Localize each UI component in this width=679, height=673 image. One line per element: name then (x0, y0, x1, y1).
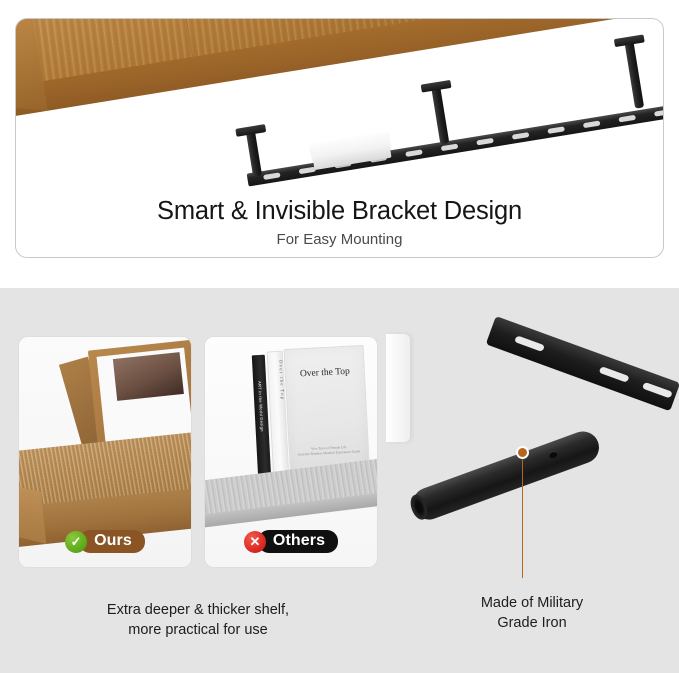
others-comparison-card: ART in the World Design Over the Top Ove… (204, 336, 378, 568)
hero-section: Smart & Invisible Bracket Design For Eas… (0, 0, 679, 288)
hero-subtitle: For Easy Mounting (16, 231, 663, 248)
hero-product-image (16, 19, 663, 194)
hero-title: Smart & Invisible Bracket Design (16, 197, 663, 226)
bracket-support-rod (408, 427, 603, 524)
bracket-rod-end-cap (407, 492, 430, 522)
bracket-plate-slot (599, 366, 630, 383)
picture-frame-photo (113, 352, 184, 401)
bracket-arm (624, 40, 644, 109)
picture-frame-mat (97, 348, 192, 447)
bracket-arm (246, 130, 262, 177)
bracket-closeup-photo (386, 298, 679, 578)
bracket-arm (431, 86, 449, 145)
check-circle-icon: ✓ (65, 531, 87, 553)
comparison-caption: Extra deeper & thicker shelf,more practi… (6, 600, 390, 640)
product-feature-page: Smart & Invisible Bracket Design For Eas… (0, 0, 679, 673)
others-badge: ✕ Others (205, 530, 377, 553)
bracket-plate-slot (514, 335, 545, 352)
ours-badge-label: Ours (79, 530, 145, 553)
bracket-plate-slot (642, 382, 673, 399)
x-circle-icon: ✕ (244, 531, 266, 553)
book-front-subtitle: Vive Texts of Female Lifefrom the Timele… (290, 444, 368, 458)
hero-card: Smart & Invisible Bracket Design For Eas… (15, 18, 664, 258)
book-spine-dark-label: ART in the World Design (255, 381, 268, 451)
annotation-leader-line (522, 458, 524, 578)
annotation-dot-icon (516, 446, 529, 459)
bracket-wall-plate (486, 316, 679, 411)
book-front-title: Over the Top (286, 366, 364, 380)
ours-badge: ✓ Ours (19, 530, 191, 553)
bracket-rod-screw-hole (548, 450, 559, 460)
others-badge-label: Others (258, 530, 338, 553)
wall-surface (386, 334, 410, 442)
bracket-feature-caption: Made of MilitaryGrade Iron (392, 593, 672, 633)
ours-comparison-card: ✓ Ours (18, 336, 192, 568)
comparison-section: ✓ Ours ART in the World Design Over the … (0, 288, 679, 673)
plank-seam (176, 19, 194, 58)
